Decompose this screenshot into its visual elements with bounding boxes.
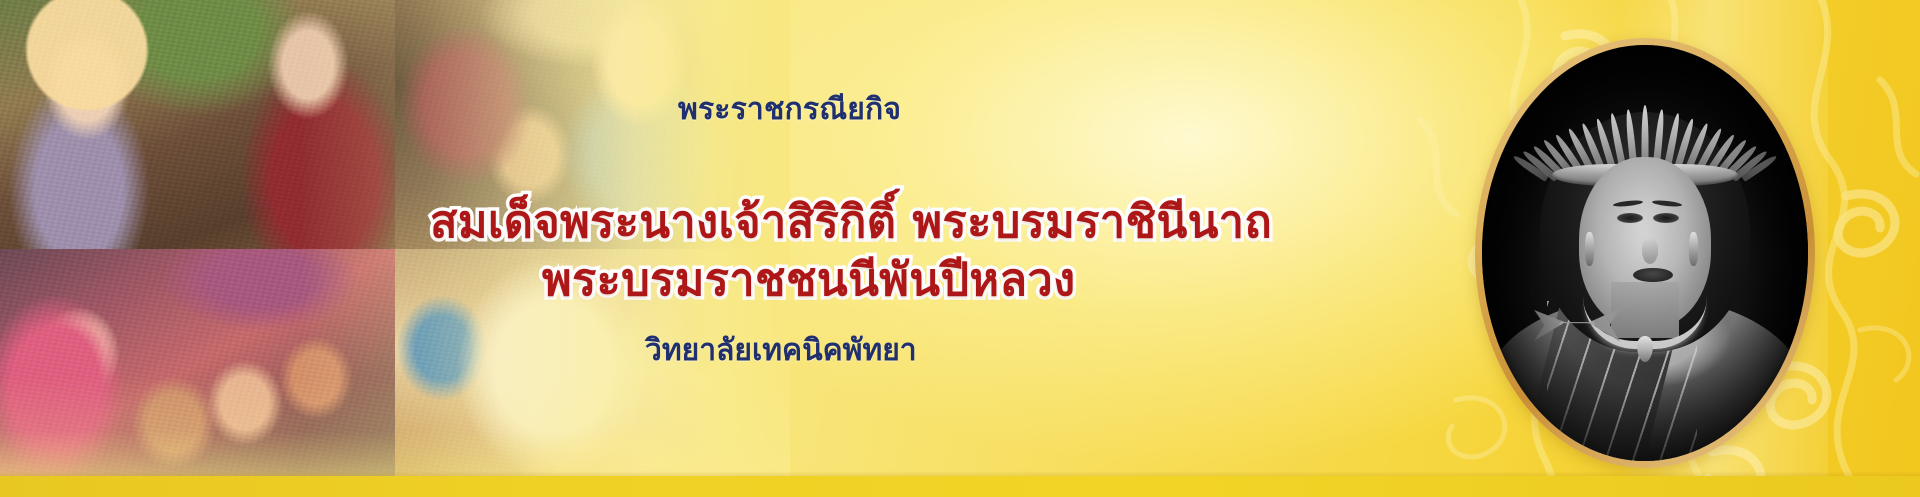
royal-banner: พระราชกรณียกิจ สมเด็จพระนางเจ้าสิริกิติ์… [0, 0, 1920, 497]
royal-portrait [1475, 38, 1815, 468]
eyebrow-heading: พระราชกรณียกิจ [678, 86, 901, 133]
portrait-image [1482, 45, 1808, 461]
bottom-gold-strip [0, 476, 1920, 497]
portrait-vignette [1482, 45, 1808, 461]
organization-name: วิทยาลัยเทคนิคพัทยา [645, 327, 917, 374]
banner-text-block: พระราชกรณียกิจ สมเด็จพระนางเจ้าสิริกิติ์… [430, 0, 1200, 497]
page-title-line-2: พระบรมราชชนนีพันปีหลวง [542, 243, 1076, 315]
